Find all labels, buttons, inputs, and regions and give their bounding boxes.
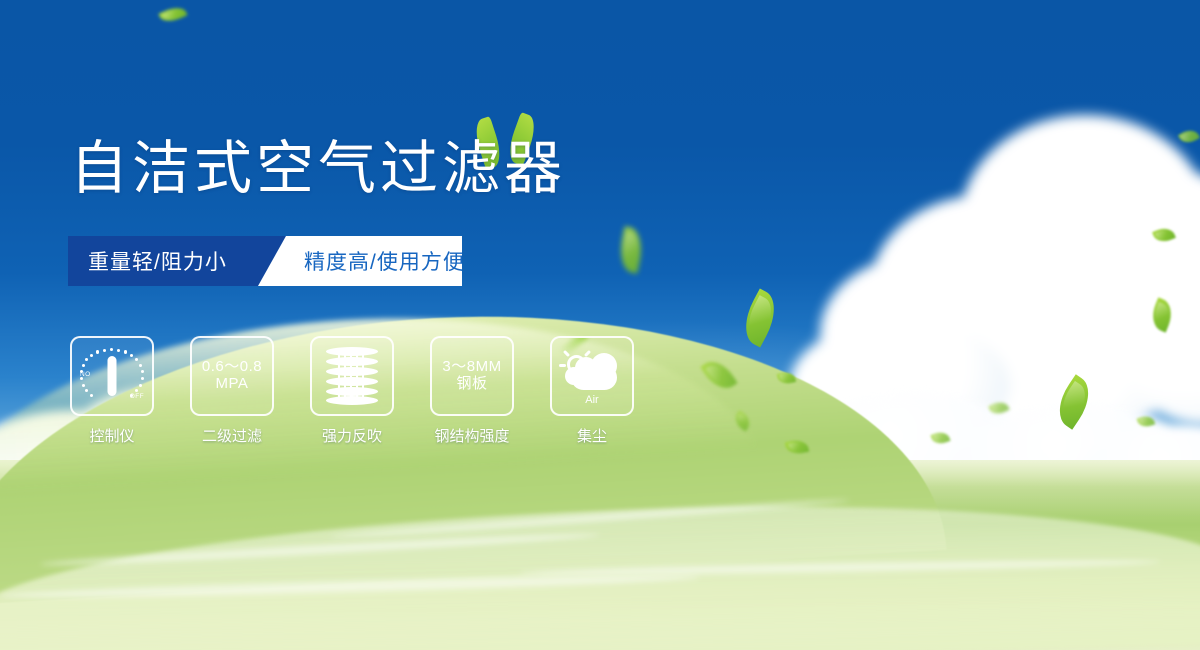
pressure-value-line1: 0.6～0.8 [202,359,262,376]
feature-icon-box [310,336,394,416]
feature-list: NO OFF 控制仪 0.6～0.8 MPA 二级过滤 [70,336,634,446]
feature-label: 控制仪 [89,425,134,446]
subtitle-bar: 重量轻/阻力小 精度高/使用方便 [68,236,462,286]
subtitle-left-text: 重量轻/阻力小 [88,246,227,276]
pressure-value-line2: MPA [216,376,249,393]
feature-item-secondary-filter[interactable]: 0.6～0.8 MPA 二级过滤 [190,336,274,446]
feature-label: 二级过滤 [202,425,262,446]
grass-field [0,460,1200,650]
gauge-max-label: OFF [130,393,144,400]
gauge-min-label: NO [80,371,91,378]
feature-icon-box: 0.6～0.8 MPA [190,336,274,416]
subtitle-left-panel: 重量轻/阻力小 [68,236,286,286]
gauge-needle [108,356,117,396]
page-title: 自洁式空气过滤器 [70,140,566,198]
cloud-air-icon: Air [561,349,623,403]
feature-item-steel-strength[interactable]: 3～8MM 钢板 钢结构强度 [430,336,514,446]
subtitle-right-text: 精度高/使用方便 [304,246,465,276]
steel-value-line2: 钢板 [456,376,487,393]
feature-label: 钢结构强度 [434,425,509,446]
feature-icon-box: 3～8MM 钢板 [430,336,514,416]
steel-value-line1: 3～8MM [442,359,501,376]
filter-cartridge-icon [326,347,378,405]
feature-icon-box: NO OFF [70,336,154,416]
feature-label: 集尘 [577,425,607,446]
feature-item-reverse-blow[interactable]: 强力反吹 [310,336,394,446]
air-label: Air [561,394,623,406]
feature-item-dust-collection[interactable]: Air 集尘 [550,336,634,446]
feature-icon-box: Air [550,336,634,416]
feature-item-controller[interactable]: NO OFF 控制仪 [70,336,154,446]
feature-label: 强力反吹 [322,425,382,446]
gauge-icon: NO OFF [81,347,143,405]
product-banner: 自洁式空气过滤器 重量轻/阻力小 精度高/使用方便 [0,0,1200,650]
